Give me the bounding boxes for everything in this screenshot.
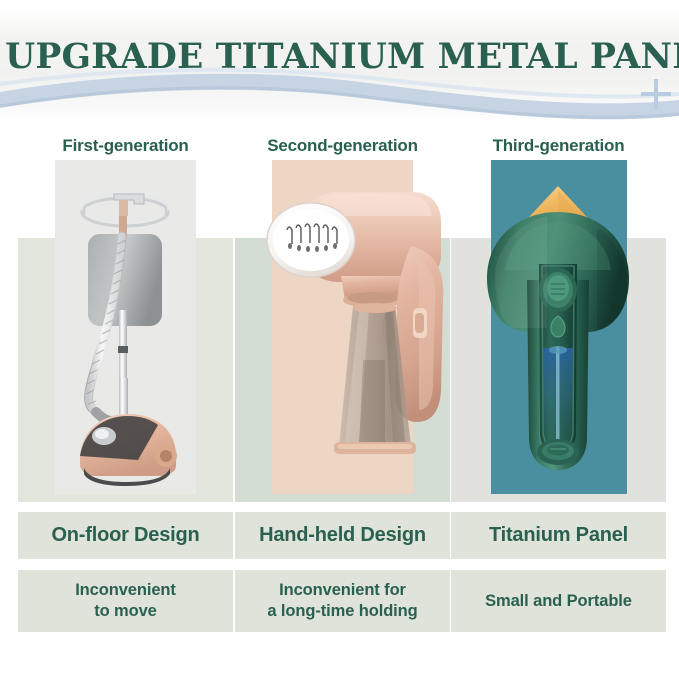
header-band: UPGRADE TITANIUM METAL PANEL [0, 0, 679, 122]
comparison-columns: First-generation [0, 126, 679, 679]
column-header-2: Second-generation [235, 136, 450, 156]
column-second-generation: Second-generation [235, 126, 450, 679]
column-first-generation: First-generation [18, 126, 233, 679]
plus-icon [641, 79, 671, 109]
product-image-upright-steamer [18, 160, 233, 502]
label-sub-text-3: Small and Portable [485, 591, 632, 612]
label-sub-3: Small and Portable [451, 570, 666, 632]
product-image-stage-2 [235, 160, 450, 502]
column-header-1: First-generation [18, 136, 233, 156]
column-third-generation: Third-generation [451, 126, 666, 679]
label-sub-2: Inconvenient for a long-time holding [235, 570, 450, 632]
wave-decoration [0, 66, 679, 124]
label-sub-text-1: Inconvenient to move [75, 580, 176, 622]
label-sub-1: Inconvenient to move [18, 570, 233, 632]
product-image-handheld-steamer-titanium [451, 160, 666, 502]
label-main-3: Titanium Panel [451, 512, 666, 559]
product-image-stage-1 [18, 160, 233, 502]
product-image-stage-3 [451, 160, 666, 502]
column-header-3: Third-generation [451, 136, 666, 156]
label-main-2: Hand-held Design [235, 512, 450, 559]
product-image-handheld-steamer-rose [235, 160, 450, 502]
infographic-root: UPGRADE TITANIUM METAL PANEL First-gener… [0, 0, 679, 679]
label-main-1: On-floor Design [18, 512, 233, 559]
label-sub-text-2: Inconvenient for a long-time holding [267, 580, 417, 622]
